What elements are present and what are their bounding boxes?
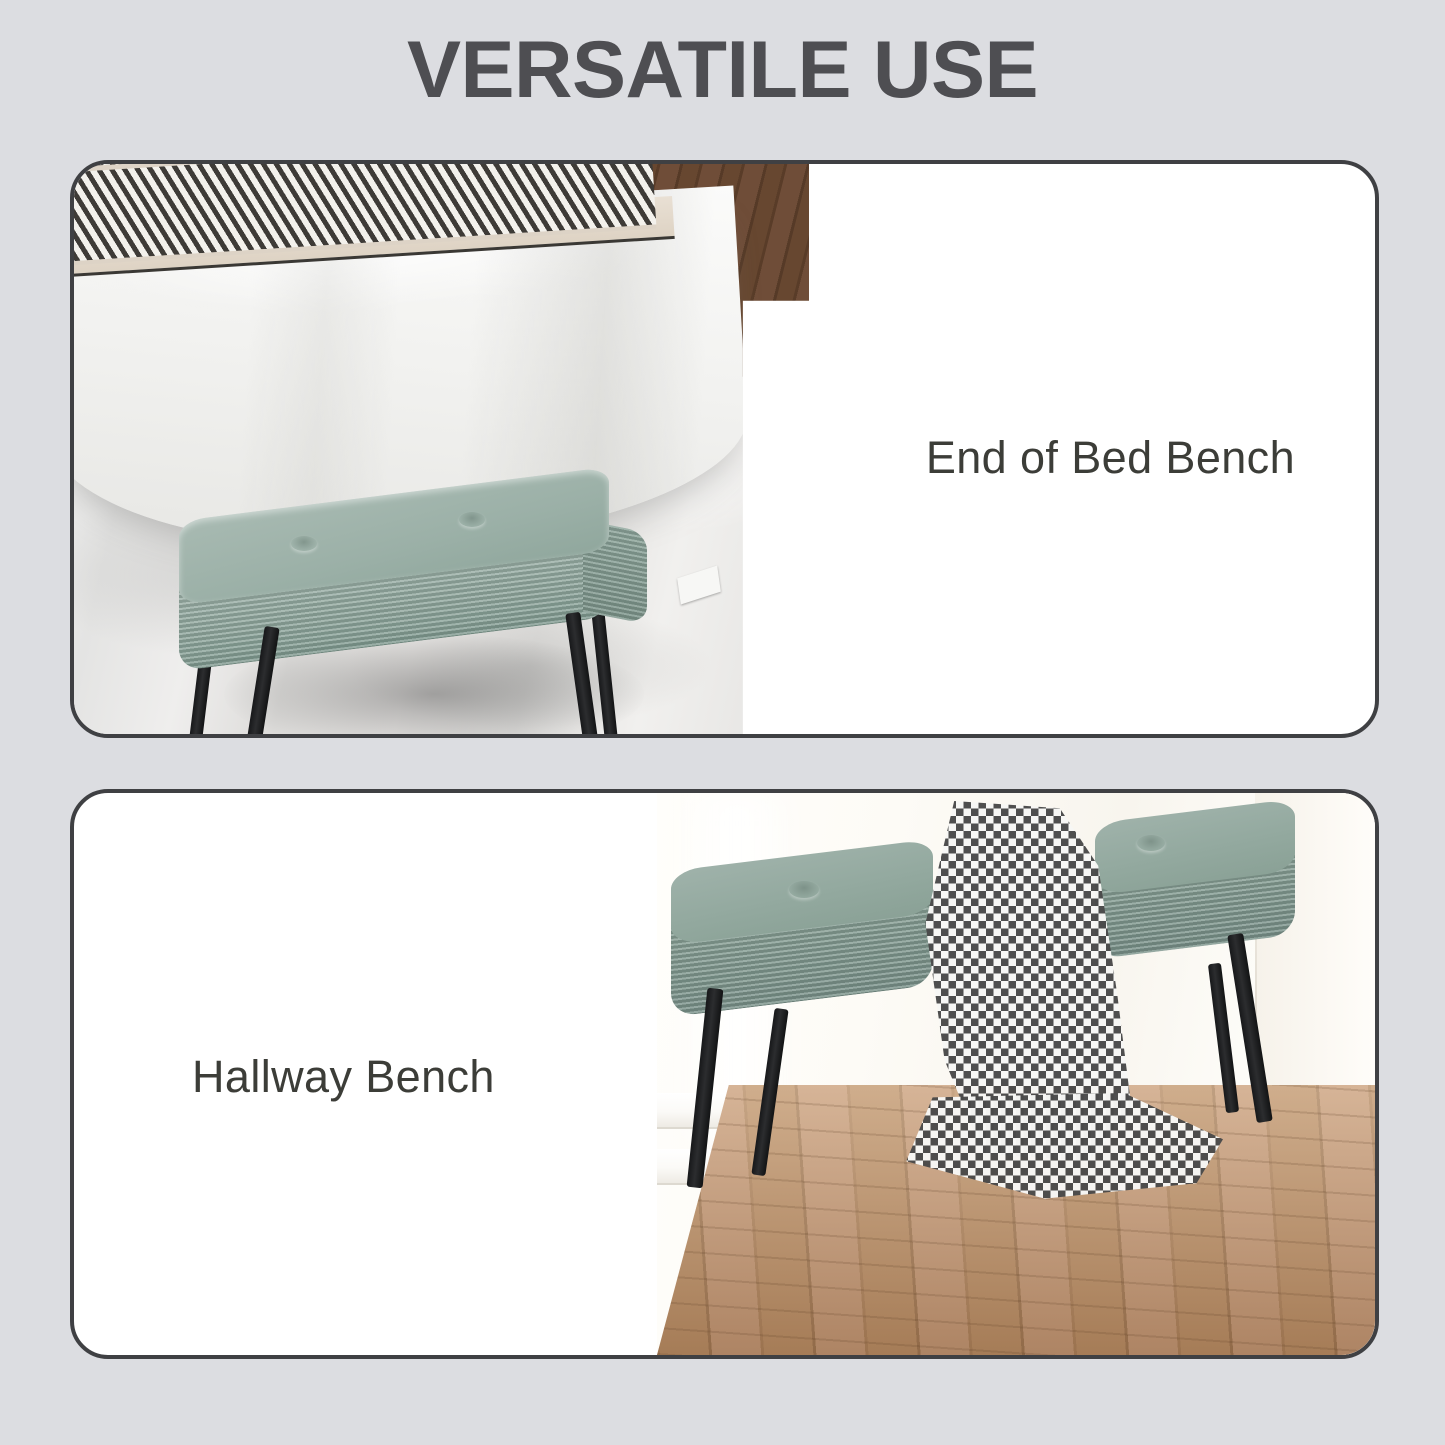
- panel-content: End of Bed Bench: [74, 164, 1375, 734]
- caption-hallway-bench: Hallway Bench: [192, 1051, 495, 1103]
- bench-product: [179, 494, 649, 734]
- feature-panel-end-of-bed: End of Bed Bench: [70, 160, 1379, 738]
- bedroom-photo: [74, 164, 809, 734]
- hallway-photo: [657, 793, 1375, 1355]
- page-title: VERSATILE USE: [0, 28, 1445, 113]
- product-feature-graphic: VERSATILE USE: [0, 0, 1445, 1445]
- bench-tuft-left: [291, 536, 317, 551]
- caption-end-of-bed-bench: End of Bed Bench: [926, 432, 1295, 484]
- bench-tuft-right: [459, 512, 485, 527]
- panel-content: Hallway Bench: [74, 793, 1375, 1355]
- feature-panel-hallway: Hallway Bench: [70, 789, 1379, 1359]
- bench-tuft-left: [789, 881, 819, 898]
- bench-tuft-right: [1137, 835, 1165, 851]
